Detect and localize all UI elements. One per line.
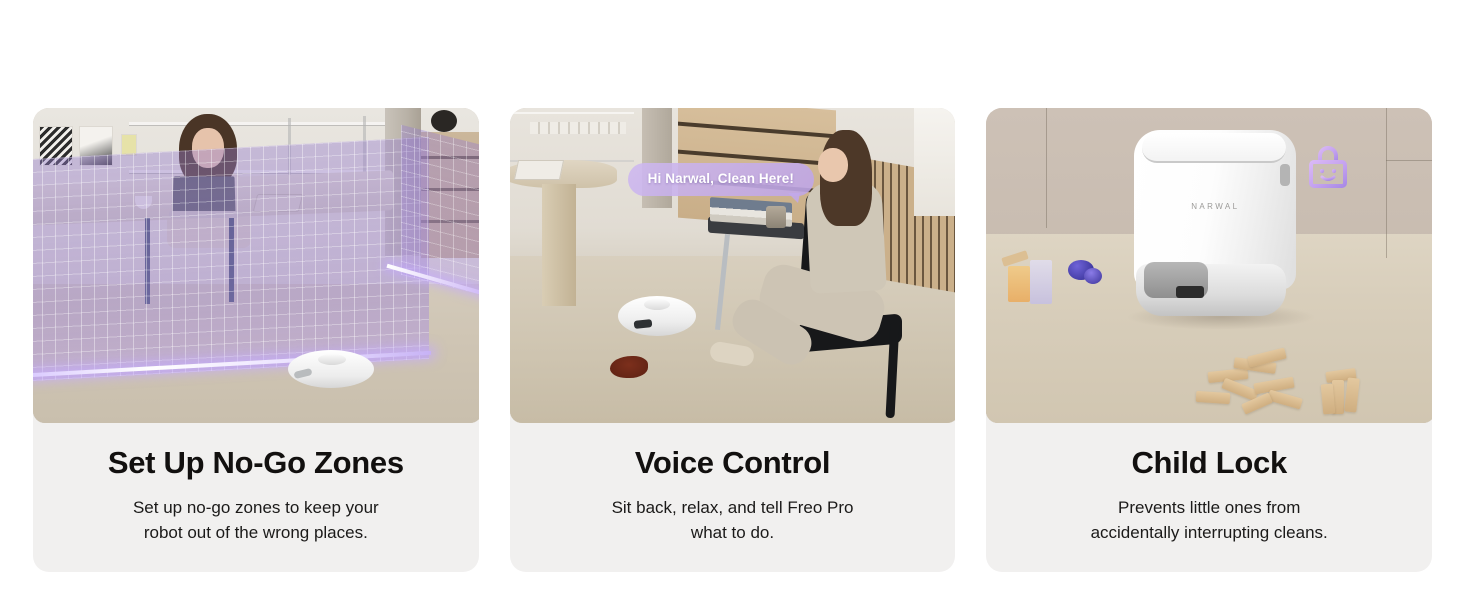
robot-vacuum — [618, 296, 696, 336]
card-title: Child Lock — [1010, 445, 1408, 481]
card-description: Sit back, relax, and tell Freo Pro what … — [534, 495, 932, 546]
feature-cards-grid: Set Up No-Go Zones Set up no-go zones to… — [33, 108, 1432, 572]
feature-card-no-go-zones[interactable]: Set Up No-Go Zones Set up no-go zones to… — [33, 108, 479, 572]
mug — [766, 206, 786, 228]
card-image-voice-control: Hi Narwal, Clean Here! — [510, 108, 956, 423]
padlock-smiley-icon — [1304, 142, 1352, 194]
voice-command-bubble: Hi Narwal, Clean Here! — [628, 163, 814, 196]
card-image-no-go-zones — [33, 108, 479, 423]
feature-card-voice-control[interactable]: Hi Narwal, Clean Here! Voice Control Sit… — [510, 108, 956, 572]
toy-cup — [1030, 260, 1052, 304]
card-description-line-1: Prevents little ones from — [1118, 498, 1300, 517]
card-description-line-1: Set up no-go zones to keep your — [133, 498, 379, 517]
feature-card-child-lock[interactable]: NARWAL — [986, 108, 1432, 572]
robot-vacuum — [288, 350, 374, 388]
card-image-child-lock: NARWAL — [986, 108, 1432, 423]
glass-shelf-unit — [510, 112, 634, 162]
magazine — [514, 160, 564, 180]
wall-panel-seam — [1386, 160, 1432, 161]
toy-cup — [1008, 266, 1030, 302]
card-description: Prevents little ones from accidentally i… — [1010, 495, 1408, 546]
side-table-base — [542, 184, 576, 306]
card-description-line-2: robot out of the wrong places. — [144, 523, 368, 542]
card-text-child-lock: Child Lock Prevents little ones from acc… — [986, 423, 1432, 572]
books-on-shelf — [530, 122, 626, 134]
card-description: Set up no-go zones to keep your robot ou… — [57, 495, 455, 546]
decorative-vase — [431, 110, 457, 132]
card-title: Set Up No-Go Zones — [57, 445, 455, 481]
no-go-zone-overlay — [33, 137, 429, 381]
wall-panel-seam — [1386, 108, 1387, 258]
card-description-line-2: accidentally interrupting cleans. — [1091, 523, 1328, 542]
person-seated — [788, 126, 918, 376]
dock-brand-label: NARWAL — [1134, 202, 1296, 211]
card-text-voice-control: Voice Control Sit back, relax, and tell … — [510, 423, 956, 572]
card-title: Voice Control — [534, 445, 932, 481]
robot-dock-station: NARWAL — [1134, 130, 1296, 320]
card-description-line-2: what to do. — [691, 523, 774, 542]
window — [914, 108, 956, 216]
card-description-line-1: Sit back, relax, and tell Freo Pro — [612, 498, 854, 517]
floor-spill-stain — [610, 356, 648, 378]
card-text-no-go-zones: Set Up No-Go Zones Set up no-go zones to… — [33, 423, 479, 572]
wall-panel-seam — [1046, 108, 1047, 228]
